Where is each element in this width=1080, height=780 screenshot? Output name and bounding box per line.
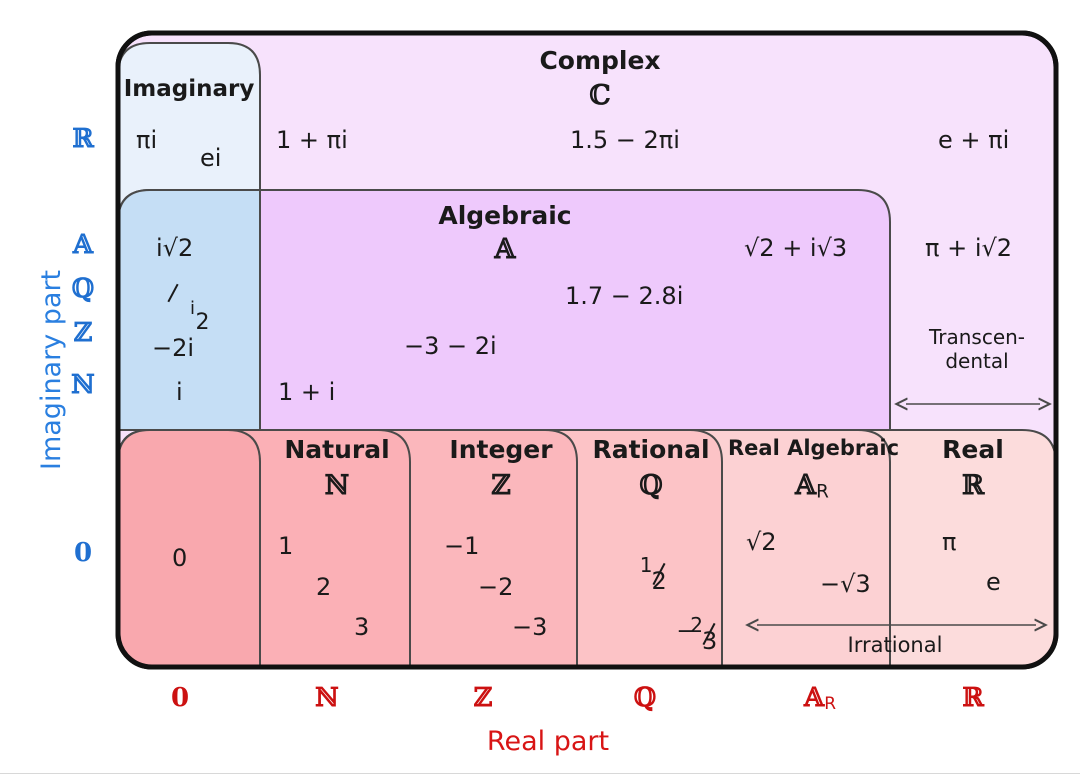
y-tick-zero: 0	[58, 540, 108, 566]
element-imaginary-e-i: ei	[200, 146, 221, 170]
x-tick-real: ℝ	[948, 685, 998, 711]
fraction-denominator: 2	[196, 313, 210, 334]
element-zero-0: 0	[172, 546, 187, 570]
set-title-imaginary: Imaginary	[122, 78, 256, 101]
element-rational-minus-two-thirds: −23	[646, 592, 710, 682]
set-symbol-real-algebraic: 𝔸R	[728, 472, 896, 502]
element-real-e: e	[986, 570, 1001, 594]
set-title-real-algebraic: Real Algebraic	[728, 438, 896, 459]
element-algebraic-1p7-minus-2p8i: 1.7 − 2.8i	[565, 284, 683, 308]
set-title-real: Real	[900, 437, 1046, 462]
element-natural-2: 2	[316, 575, 331, 599]
annotation-transcendental-line2: dental	[908, 350, 1046, 372]
annotation-transcendental-line1: Transcen-	[908, 326, 1046, 348]
set-symbol-algebraic: 𝔸	[405, 236, 605, 263]
set-title-integer: Integer	[428, 437, 574, 462]
element-imaginary-minus-2i: −2i	[152, 336, 194, 360]
fraction-2-over-3: 23	[695, 616, 710, 658]
set-title-complex: Complex	[500, 48, 700, 73]
y-axis-title: Imaginary part	[38, 270, 65, 470]
element-transcendental-pi-plus-i-sqrt2: π + i√2	[925, 236, 1012, 260]
element-natural-3: 3	[354, 615, 369, 639]
set-symbol-real-algebraic-subscript: R	[816, 481, 829, 502]
set-symbol-integer: ℤ	[428, 472, 574, 499]
set-region-zero	[118, 430, 260, 667]
page-bottom-divider	[0, 773, 1080, 774]
set-title-natural: Natural	[264, 437, 410, 462]
diagram-canvas: Complex ℂ 1 + πi 1.5 − 2πi e + πi Imagin…	[0, 0, 1080, 780]
set-symbol-rational: ℚ	[578, 472, 724, 499]
x-tick-real-algebraic-base: 𝔸	[804, 683, 824, 713]
element-natural-1: 1	[278, 534, 293, 558]
annotation-irrational: Irrational	[800, 634, 990, 658]
element-complex-0: 1 + πi	[276, 128, 348, 152]
y-tick-algebraic: 𝔸	[58, 232, 108, 258]
set-title-algebraic: Algebraic	[405, 203, 605, 228]
number-sets-euler-diagram	[0, 0, 1080, 780]
element-imaginary-i-sqrt2: i√2	[156, 236, 193, 260]
x-tick-integer: ℤ	[458, 685, 508, 711]
x-tick-rational: ℚ	[620, 685, 670, 711]
set-title-rational: Rational	[578, 437, 724, 462]
element-integer-minus2: −2	[478, 575, 513, 599]
element-complex-2: e + πi	[938, 128, 1009, 152]
fraction-i-over-2: i2	[191, 300, 205, 338]
element-real-algebraic-minus-sqrt3: −√3	[820, 572, 871, 596]
element-real-pi: π	[942, 530, 956, 554]
element-real-algebraic-sqrt2: √2	[746, 530, 777, 554]
element-algebraic-minus3-minus-2i: −3 − 2i	[404, 334, 497, 358]
set-symbol-complex: ℂ	[500, 82, 700, 109]
element-algebraic-1-plus-i: 1 + i	[278, 380, 335, 404]
element-integer-minus3: −3	[512, 615, 547, 639]
element-imaginary-pi-i: πi	[136, 128, 157, 152]
x-tick-real-algebraic-subscript: R	[824, 694, 836, 714]
y-tick-real: ℝ	[58, 126, 108, 152]
element-complex-1: 1.5 − 2πi	[570, 128, 680, 152]
x-tick-natural: ℕ	[302, 685, 352, 711]
set-symbol-real-algebraic-base: 𝔸	[795, 470, 816, 501]
element-imaginary-i: i	[176, 380, 183, 404]
x-axis-title: Real part	[448, 728, 648, 755]
x-tick-real-algebraic: 𝔸R	[790, 685, 850, 713]
element-algebraic-sqrt2-plus-i-sqrt3: √2 + i√3	[744, 236, 847, 260]
set-symbol-natural: ℕ	[264, 472, 410, 499]
x-tick-zero: 0	[155, 685, 205, 711]
fraction-bar	[167, 284, 178, 303]
set-symbol-real: ℝ	[900, 472, 1046, 499]
element-integer-minus1: −1	[444, 534, 479, 558]
